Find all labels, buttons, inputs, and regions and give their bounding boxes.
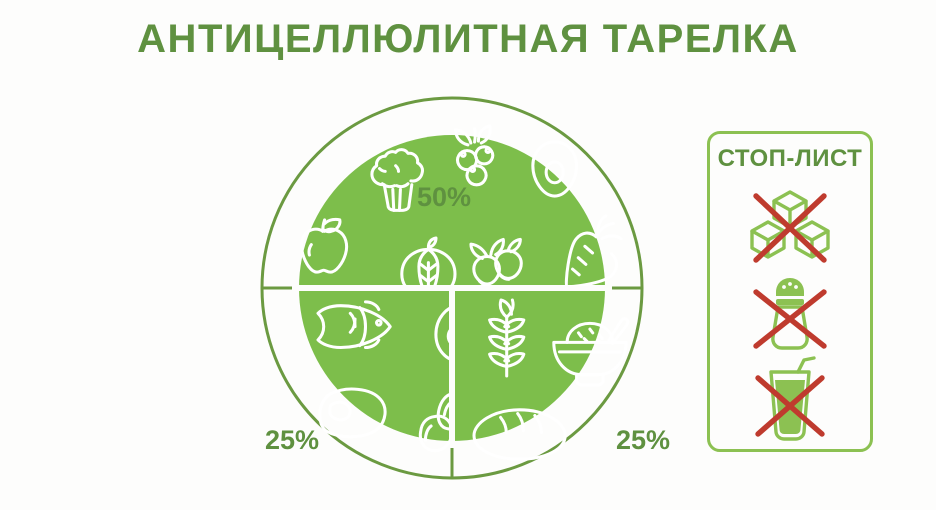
infographic-canvas: АНТИЦЕЛЛЮЛИТНАЯ ТАРЕЛКА — [0, 0, 936, 510]
stop-list-panel: СТОП-ЛИСТ — [707, 131, 873, 452]
sugar-cubes-icon — [742, 184, 838, 270]
percent-label-bottom-right: 25% — [616, 425, 670, 456]
page-title: АНТИЦЕЛЛЮЛИТНАЯ ТАРЕЛКА — [0, 17, 936, 62]
salt-shaker-icon — [742, 270, 838, 356]
stop-list-item-sugar — [742, 184, 838, 270]
percent-label-top: 50% — [417, 182, 471, 213]
cross-out-mark — [756, 196, 824, 260]
drink-glass-straw-icon — [742, 356, 838, 442]
percent-label-bottom-left: 25% — [265, 425, 319, 456]
stop-list-item-salt — [742, 270, 838, 356]
plate-diagram: 50% 25% 25% — [252, 88, 652, 488]
stop-list-item-drink — [742, 356, 838, 442]
stop-list-title: СТОП-ЛИСТ — [710, 145, 870, 173]
